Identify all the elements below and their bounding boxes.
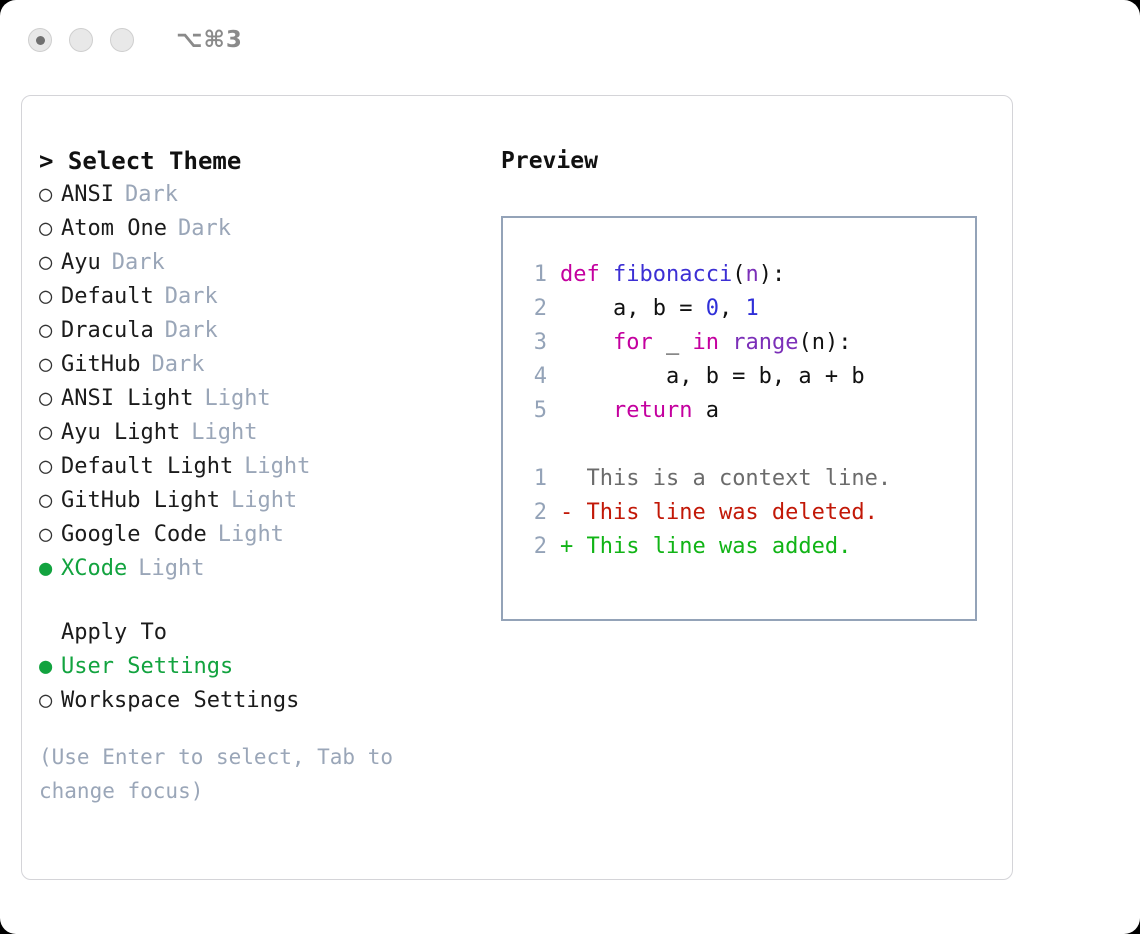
code-line: 3 for _ in range(n): [521,326,975,360]
code-token-pln [560,398,613,423]
code-line: 5 return a [521,394,975,428]
code-token-kw: return [613,398,692,423]
spacer [39,718,489,740]
theme-option-label: Default [61,280,154,314]
theme-option-label: ANSI Light [61,382,193,416]
apply-to-heading-bullet-placeholder: ○ [39,616,61,650]
theme-option-label: Atom One [61,212,167,246]
app-root: ⌥⌘3 > Select Theme ○ANSIDark○Atom OneDar… [0,0,1140,934]
theme-variant-label: Light [233,450,310,484]
theme-option-label: ANSI [61,178,114,212]
code-line-content: def fibonacci(n): [560,258,785,292]
code-token-pln: ( [798,330,811,355]
theme-option-label: Default Light [61,450,233,484]
code-token-pln: ): [825,330,852,355]
apply-to-option-label: User Settings [61,650,233,684]
theme-option-ayu-light[interactable]: ○Ayu LightLight [39,416,489,450]
diff-line-text: This line was added. [573,530,851,564]
theme-variant-label: Dark [167,212,231,246]
radio-unselected-icon[interactable]: ○ [39,212,61,246]
theme-variant-label: Dark [154,314,218,348]
theme-variant-label: Light [220,484,297,518]
apply-to-heading-row: ○ Apply To [39,616,489,650]
diff-line-number: 2 [521,530,547,564]
window-dot-inner-icon [36,36,45,45]
code-line-content: return a [560,394,719,428]
code-line: 4 a, b = b, a + b [521,360,975,394]
radio-selected-icon[interactable]: ● [39,552,61,586]
code-diff-separator [521,428,975,462]
diff-marker: - [560,496,573,530]
window-dot-third-icon[interactable] [110,28,134,52]
select-theme-heading: > Select Theme [39,144,489,178]
theme-option-label: Google Code [61,518,207,552]
code-token-num: 0 [706,296,719,321]
diff-line-del: 2- This line was deleted. [521,496,975,530]
main-window: > Select Theme ○ANSIDark○Atom OneDark○Ay… [21,95,1013,880]
code-token-pln [719,330,732,355]
code-token-pln: n [812,330,825,355]
radio-unselected-icon[interactable]: ○ [39,484,61,518]
radio-unselected-icon[interactable]: ○ [39,246,61,280]
window-controls [28,28,134,52]
code-token-fn: fibonacci [613,262,732,287]
code-token-kw: def [560,262,600,287]
code-line: 1def fibonacci(n): [521,258,975,292]
code-token-pln: , [719,296,746,321]
theme-option-label: GitHub Light [61,484,220,518]
diff-marker: + [560,530,573,564]
preview-box: 1def fibonacci(n):2 a, b = 0, 13 for _ i… [501,216,977,621]
code-token-pln: a, b = [560,296,706,321]
radio-unselected-icon[interactable]: ○ [39,280,61,314]
radio-unselected-icon[interactable]: ○ [39,382,61,416]
diff-line-text: This is a context line. [573,462,891,496]
preview-heading: Preview [501,144,991,178]
theme-variant-label: Light [127,552,204,586]
theme-option-dracula[interactable]: ○DraculaDark [39,314,489,348]
code-token-pln [600,262,613,287]
diff-line-add: 2+ This line was added. [521,530,975,564]
apply-to-option-user-settings[interactable]: ●User Settings [39,650,489,684]
code-line-number: 3 [521,326,547,360]
theme-list: ○ANSIDark○Atom OneDark○AyuDark○DefaultDa… [39,178,489,586]
radio-unselected-icon[interactable]: ○ [39,314,61,348]
keyboard-hint-text: (Use Enter to select, Tab to change focu… [39,740,449,808]
diff-line-number: 1 [521,462,547,496]
radio-unselected-icon[interactable]: ○ [39,450,61,484]
radio-unselected-icon[interactable]: ○ [39,416,61,450]
code-line-number: 2 [521,292,547,326]
theme-variant-label: Light [193,382,270,416]
theme-option-google-code[interactable]: ○Google CodeLight [39,518,489,552]
keyboard-shortcut-label: ⌥⌘3 [176,27,243,53]
title-bar: ⌥⌘3 [0,0,1140,80]
diff-sample: 1 This is a context line.2- This line wa… [521,462,975,564]
theme-option-github-light[interactable]: ○GitHub LightLight [39,484,489,518]
theme-option-label: GitHub [61,348,140,382]
theme-option-ansi-light[interactable]: ○ANSI LightLight [39,382,489,416]
radio-unselected-icon[interactable]: ○ [39,518,61,552]
code-token-call: range [732,330,798,355]
code-token-pln: _ [653,330,693,355]
apply-to-option-label: Workspace Settings [61,684,299,718]
diff-line-text: This line was deleted. [573,496,878,530]
diff-line-ctx: 1 This is a context line. [521,462,975,496]
code-line: 2 a, b = 0, 1 [521,292,975,326]
code-token-pln: a [692,398,719,423]
theme-selection-panel: > Select Theme ○ANSIDark○Atom OneDark○Ay… [39,144,489,808]
diff-marker [560,462,573,496]
theme-option-xcode[interactable]: ●XCodeLight [39,552,489,586]
theme-variant-label: Light [207,518,284,552]
code-token-pln: ): [759,262,786,287]
window-dot-active-icon[interactable] [28,28,52,52]
theme-option-label: Ayu [61,246,101,280]
theme-option-label: Dracula [61,314,154,348]
code-sample: 1def fibonacci(n):2 a, b = 0, 13 for _ i… [521,258,975,428]
theme-variant-label: Dark [114,178,178,212]
window-columns: > Select Theme ○ANSIDark○Atom OneDark○Ay… [22,96,1012,879]
theme-variant-label: Dark [140,348,204,382]
code-line-content: a, b = b, a + b [560,360,865,394]
preview-panel: Preview 1def fibonacci(n):2 a, b = 0, 13… [501,144,991,621]
code-line-number: 1 [521,258,547,292]
window-dot-second-icon[interactable] [69,28,93,52]
theme-option-default[interactable]: ○DefaultDark [39,280,489,314]
code-token-pln [560,330,613,355]
theme-option-default-light[interactable]: ○Default LightLight [39,450,489,484]
theme-variant-label: Dark [101,246,165,280]
code-token-kw: for [613,330,653,355]
theme-option-label: Ayu Light [61,416,180,450]
theme-option-ayu[interactable]: ○AyuDark [39,246,489,280]
theme-option-atom-one[interactable]: ○Atom OneDark [39,212,489,246]
apply-to-heading: Apply To [61,616,167,650]
theme-variant-label: Light [180,416,257,450]
theme-variant-label: Dark [154,280,218,314]
theme-option-label: XCode [61,552,127,586]
code-line-content: a, b = 0, 1 [560,292,759,326]
spacer [39,586,489,616]
code-line-content: for _ in range(n): [560,326,851,360]
radio-unselected-icon[interactable]: ○ [39,348,61,382]
code-token-var: n [745,262,758,287]
code-token-num: 1 [745,296,758,321]
code-line-number: 4 [521,360,547,394]
theme-option-github[interactable]: ○GitHubDark [39,348,489,382]
radio-unselected-icon[interactable]: ○ [39,178,61,212]
radio-unselected-icon[interactable]: ○ [39,684,61,718]
theme-option-ansi[interactable]: ○ANSIDark [39,178,489,212]
apply-to-list: ●User Settings○Workspace Settings [39,650,489,718]
code-token-pln: a, b = b, a + b [560,364,865,389]
apply-to-option-workspace-settings[interactable]: ○Workspace Settings [39,684,489,718]
radio-selected-icon[interactable]: ● [39,650,61,684]
diff-line-number: 2 [521,496,547,530]
code-token-pln: ( [732,262,745,287]
code-line-number: 5 [521,394,547,428]
code-token-kw: in [692,330,719,355]
